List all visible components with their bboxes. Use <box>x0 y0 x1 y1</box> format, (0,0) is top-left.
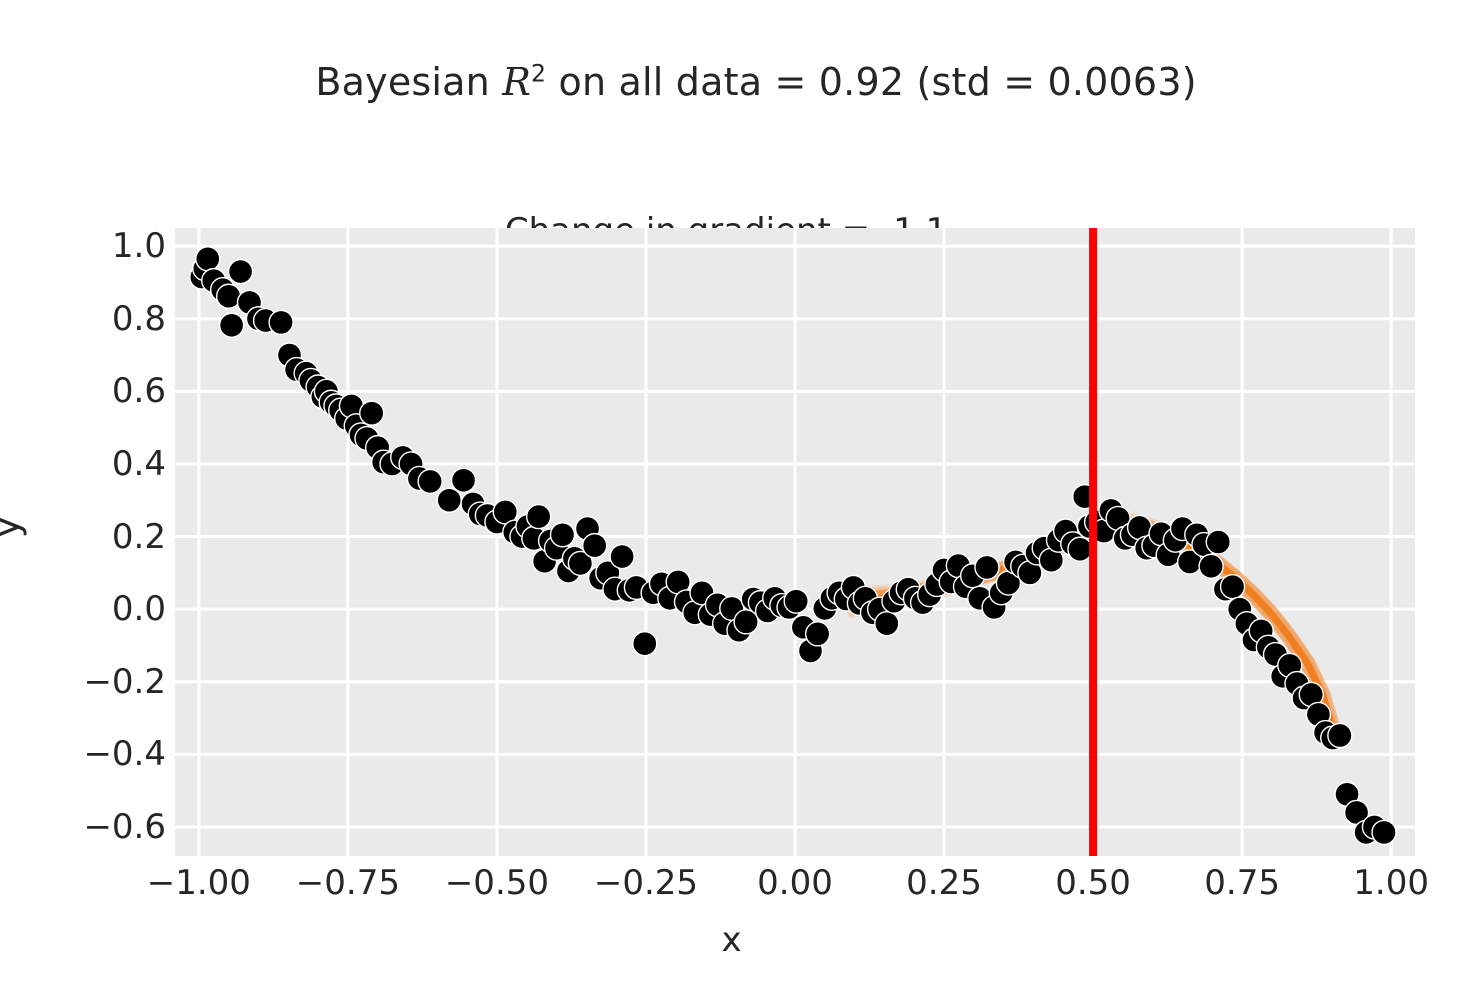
x-tick-label: −0.50 <box>445 866 549 900</box>
x-tick-label: 0.50 <box>1055 866 1131 900</box>
y-tick-label: 0.2 <box>112 520 166 554</box>
y-tick-label: 0.8 <box>112 302 166 336</box>
y-tick-label: −0.2 <box>83 665 166 699</box>
y-tick-label: 1.0 <box>112 229 166 263</box>
y-tick-label: 0.0 <box>112 592 166 626</box>
y-tick-label: −0.4 <box>83 737 166 771</box>
x-tick-label: 0.75 <box>1204 866 1280 900</box>
y-tick-label: −0.6 <box>83 810 166 844</box>
suptitle-suffix: on all data = 0.92 (std = 0.0063) <box>546 60 1196 104</box>
figure-canvas: Bayesian R2 on all data = 0.92 (std = 0.… <box>0 0 1463 983</box>
suptitle-prefix: Bayesian <box>315 60 502 104</box>
plot-area: Posterior mean <box>175 228 1415 856</box>
y-tick-label: 0.6 <box>112 374 166 408</box>
x-tick-label: 0.00 <box>757 866 833 900</box>
x-tick-label: 0.25 <box>906 866 982 900</box>
plot-svg <box>175 228 1415 856</box>
y-tick-label: 0.4 <box>112 447 166 481</box>
suptitle-math-base: R <box>502 60 531 104</box>
x-tick-label: −1.00 <box>147 866 251 900</box>
x-axis-label: x <box>0 920 1463 960</box>
y-axis-label: y <box>0 516 27 539</box>
suptitle-math-exponent: 2 <box>531 59 546 87</box>
x-tick-label: 1.00 <box>1353 866 1429 900</box>
x-tick-label: −0.75 <box>296 866 400 900</box>
x-tick-label: −0.25 <box>594 866 698 900</box>
